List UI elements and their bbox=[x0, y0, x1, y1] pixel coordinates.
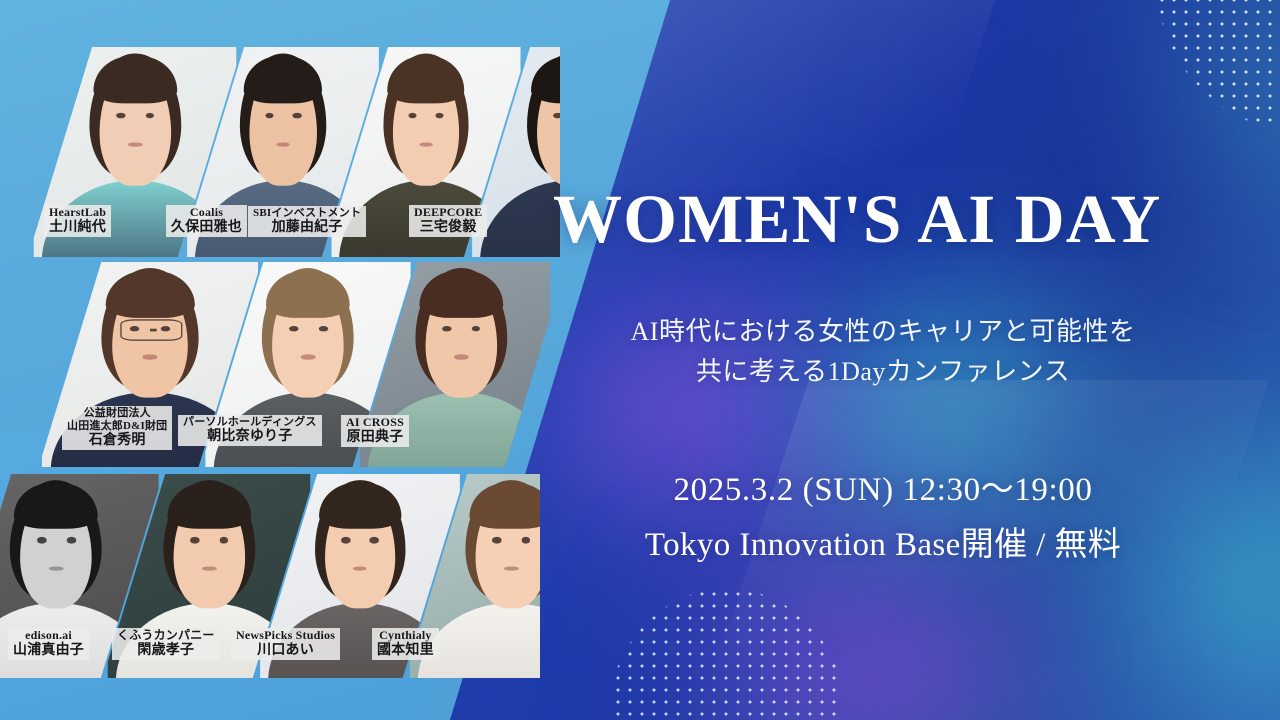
speaker-org: Coalis bbox=[171, 206, 242, 220]
speaker-org: 公益財団法人 bbox=[67, 407, 167, 420]
speaker-name: 三宅俊毅 bbox=[414, 220, 482, 236]
speaker-caption-9: くふうカンパニー 閑歳孝子 bbox=[112, 628, 220, 660]
speaker-org: Cynthialy bbox=[377, 629, 434, 643]
speaker-name: 石倉秀明 bbox=[67, 433, 167, 449]
speaker-name: 原田典子 bbox=[346, 430, 404, 446]
event-subtitle-line2: 共に考える1Dayカンファレンス bbox=[553, 352, 1213, 392]
speaker-caption-5: 公益財団法人 山田進太郎D&I財団 石倉秀明 bbox=[62, 406, 172, 450]
speaker-caption-6: パーソルホールディングス 朝比奈ゆり子 bbox=[178, 415, 322, 446]
speaker-org: SBIインベストメント bbox=[253, 207, 361, 220]
speaker-name: 閑歳孝子 bbox=[117, 643, 215, 659]
speaker-caption-10: NewsPicks Studios 川口あい bbox=[231, 628, 340, 660]
speaker-org: edison.ai bbox=[13, 629, 84, 643]
speaker-caption-11: Cynthialy 國本知里 bbox=[372, 628, 439, 660]
speaker-org: くふうカンパニー bbox=[117, 629, 215, 643]
speaker-name: 加藤由紀子 bbox=[253, 220, 361, 236]
speaker-org: HearstLab bbox=[49, 206, 106, 220]
speaker-caption-7: AI CROSS 原田典子 bbox=[341, 415, 409, 447]
speaker-caption-2: Coalis 久保田雅也 bbox=[166, 205, 247, 237]
event-subtitle: AI時代における女性のキャリアと可能性を 共に考える1Dayカンファレンス bbox=[553, 312, 1213, 391]
event-poster: HearstLab 土川純代 Coalis 久保田雅也 SBIインベストメント … bbox=[0, 0, 1280, 720]
speaker-org: NewsPicks Studios bbox=[236, 629, 335, 643]
speaker-org: DEEPCORE bbox=[414, 206, 482, 220]
speaker-name: 山浦真由子 bbox=[13, 643, 84, 659]
speaker-org-line2: 山田進太郎D&I財団 bbox=[67, 420, 167, 433]
speaker-caption-3: SBIインベストメント 加藤由紀子 bbox=[248, 206, 366, 237]
speaker-name: 國本知里 bbox=[377, 643, 434, 659]
speaker-name: 朝比奈ゆり子 bbox=[183, 429, 317, 445]
event-subtitle-line1: AI時代における女性のキャリアと可能性を bbox=[553, 312, 1213, 352]
event-details: 2025.3.2 (SUN) 12:30〜19:00 Tokyo Innovat… bbox=[553, 470, 1213, 567]
speaker-name: 久保田雅也 bbox=[171, 220, 242, 236]
speaker-org: AI CROSS bbox=[346, 416, 404, 430]
speaker-name: 川口あい bbox=[236, 643, 335, 659]
speaker-caption-1: HearstLab 土川純代 bbox=[44, 205, 111, 237]
speaker-caption-8: edison.ai 山浦真由子 bbox=[8, 628, 89, 660]
speaker-org: パーソルホールディングス bbox=[183, 416, 317, 429]
event-venue: Tokyo Innovation Base開催 / 無料 bbox=[553, 525, 1213, 566]
speaker-caption-4: DEEPCORE 三宅俊毅 bbox=[409, 205, 487, 237]
event-title: WOMEN'S AI DAY bbox=[553, 185, 1162, 254]
event-date: 2025.3.2 (SUN) 12:30〜19:00 bbox=[553, 470, 1213, 511]
speaker-name: 土川純代 bbox=[49, 220, 106, 236]
